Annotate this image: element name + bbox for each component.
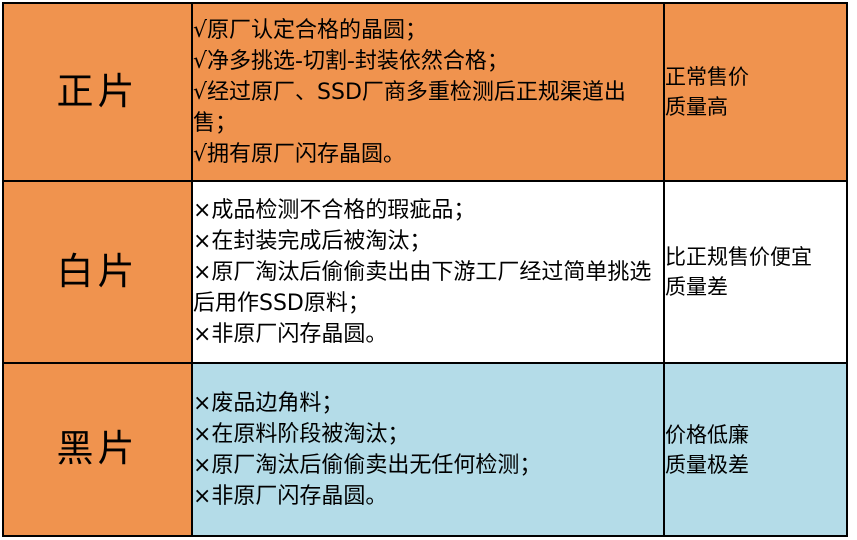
detail-list-1: ×成品检测不合格的瑕疵品； ×在封装完成后被淘汰； ×原厂淘汰后偷偷卖出由下游工…	[193, 195, 663, 350]
detail-cell-2: ×废品边角料； ×在原料阶段被淘汰； ×原厂淘汰后偷偷卖出无任何检测； ×非原厂…	[192, 363, 664, 536]
detail-line: √拥有原厂闪存晶圆。	[193, 139, 663, 170]
detail-line: √经过原厂、SSD厂商多重检测后正规渠道出售；	[193, 77, 663, 139]
detail-line: ×废品边角料；	[193, 388, 663, 419]
detail-line: ×成品检测不合格的瑕疵品；	[193, 195, 663, 226]
detail-list-0: √原厂认定合格的晶圆； √净多挑选-切割-封装依然合格； √经过原厂、SSD厂商…	[193, 15, 663, 170]
grade-label-cell-1: 白片	[3, 181, 192, 363]
grade-label-cell-2: 黑片	[3, 363, 192, 536]
verdict-line: 正常售价	[665, 62, 846, 92]
detail-line: ×非原厂闪存晶圆。	[193, 481, 663, 512]
verdict-line: 比正规售价便宜	[665, 242, 846, 272]
verdict-cell-0: 正常售价 质量高	[664, 3, 847, 181]
detail-line: √净多挑选-切割-封装依然合格；	[193, 46, 663, 77]
detail-line: ×在封装完成后被淘汰；	[193, 226, 663, 257]
table-row: 黑片 ×废品边角料； ×在原料阶段被淘汰； ×原厂淘汰后偷偷卖出无任何检测； ×…	[3, 363, 847, 536]
detail-line: ×非原厂闪存晶圆。	[193, 319, 663, 350]
detail-line: ×原厂淘汰后偷偷卖出由下游工厂经过简单挑选后用作SSD原料；	[193, 257, 663, 319]
verdict-list-0: 正常售价 质量高	[665, 62, 846, 122]
detail-list-2: ×废品边角料； ×在原料阶段被淘汰； ×原厂淘汰后偷偷卖出无任何检测； ×非原厂…	[193, 388, 663, 512]
verdict-cell-1: 比正规售价便宜 质量差	[664, 181, 847, 363]
verdict-list-2: 价格低廉 质量极差	[665, 420, 846, 480]
detail-line: ×原厂淘汰后偷偷卖出无任何检测；	[193, 450, 663, 481]
table-row: 白片 ×成品检测不合格的瑕疵品； ×在封装完成后被淘汰； ×原厂淘汰后偷偷卖出由…	[3, 181, 847, 363]
verdict-line: 质量极差	[665, 450, 846, 480]
verdict-cell-2: 价格低廉 质量极差	[664, 363, 847, 536]
detail-cell-0: √原厂认定合格的晶圆； √净多挑选-切割-封装依然合格； √经过原厂、SSD厂商…	[192, 3, 664, 181]
detail-cell-1: ×成品检测不合格的瑕疵品； ×在封装完成后被淘汰； ×原厂淘汰后偷偷卖出由下游工…	[192, 181, 664, 363]
detail-line: ×在原料阶段被淘汰；	[193, 419, 663, 450]
verdict-list-1: 比正规售价便宜 质量差	[665, 242, 846, 302]
verdict-line: 质量高	[665, 92, 846, 122]
table-body: 正片 √原厂认定合格的晶圆； √净多挑选-切割-封装依然合格； √经过原厂、SS…	[3, 3, 847, 536]
detail-line: √原厂认定合格的晶圆；	[193, 15, 663, 46]
grade-label-cell-0: 正片	[3, 3, 192, 181]
verdict-line: 价格低廉	[665, 420, 846, 450]
grade-comparison-table: 正片 √原厂认定合格的晶圆； √净多挑选-切割-封装依然合格； √经过原厂、SS…	[2, 2, 848, 537]
table-row: 正片 √原厂认定合格的晶圆； √净多挑选-切割-封装依然合格； √经过原厂、SS…	[3, 3, 847, 181]
verdict-line: 质量差	[665, 272, 846, 302]
